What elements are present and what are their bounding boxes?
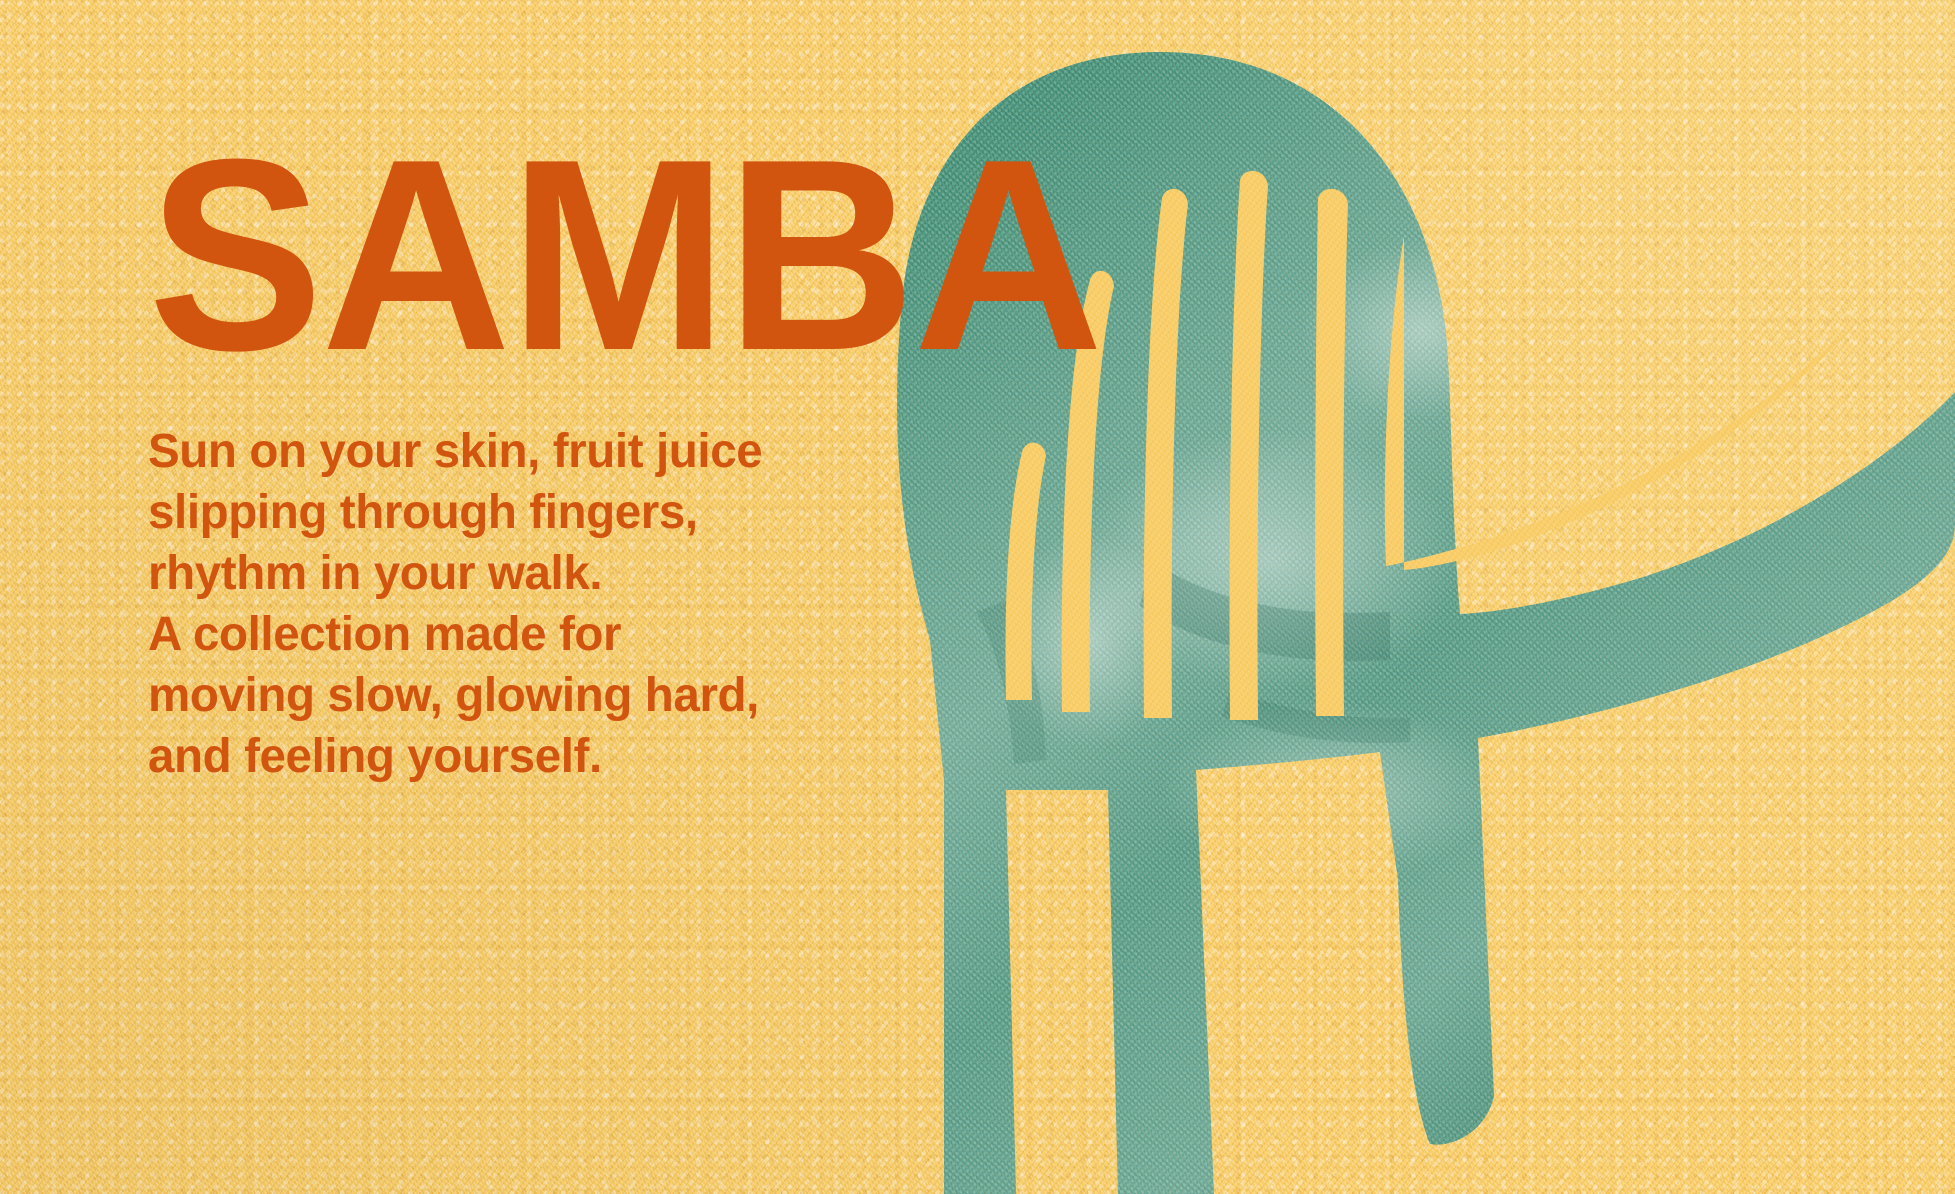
backrest-slot-5 [1315, 189, 1348, 716]
body-copy-line: moving slow, glowing hard, [148, 666, 841, 727]
text-column: SAMBA Sun on your skin, fruit juice slip… [148, 140, 848, 788]
page-title: SAMBA [148, 140, 890, 369]
body-copy-line: A collection made for [148, 605, 841, 666]
body-copy-line: slipping through fingers, [148, 483, 841, 544]
body-copy: Sun on your skin, fruit juice slipping t… [148, 422, 841, 788]
samba-promo-banner: SAMBA Sun on your skin, fruit juice slip… [0, 0, 1955, 1194]
body-copy-line: Sun on your skin, fruit juice [148, 422, 841, 483]
body-copy-line: rhythm in your walk. [148, 544, 841, 605]
body-copy-line: and feeling yourself. [148, 727, 841, 788]
